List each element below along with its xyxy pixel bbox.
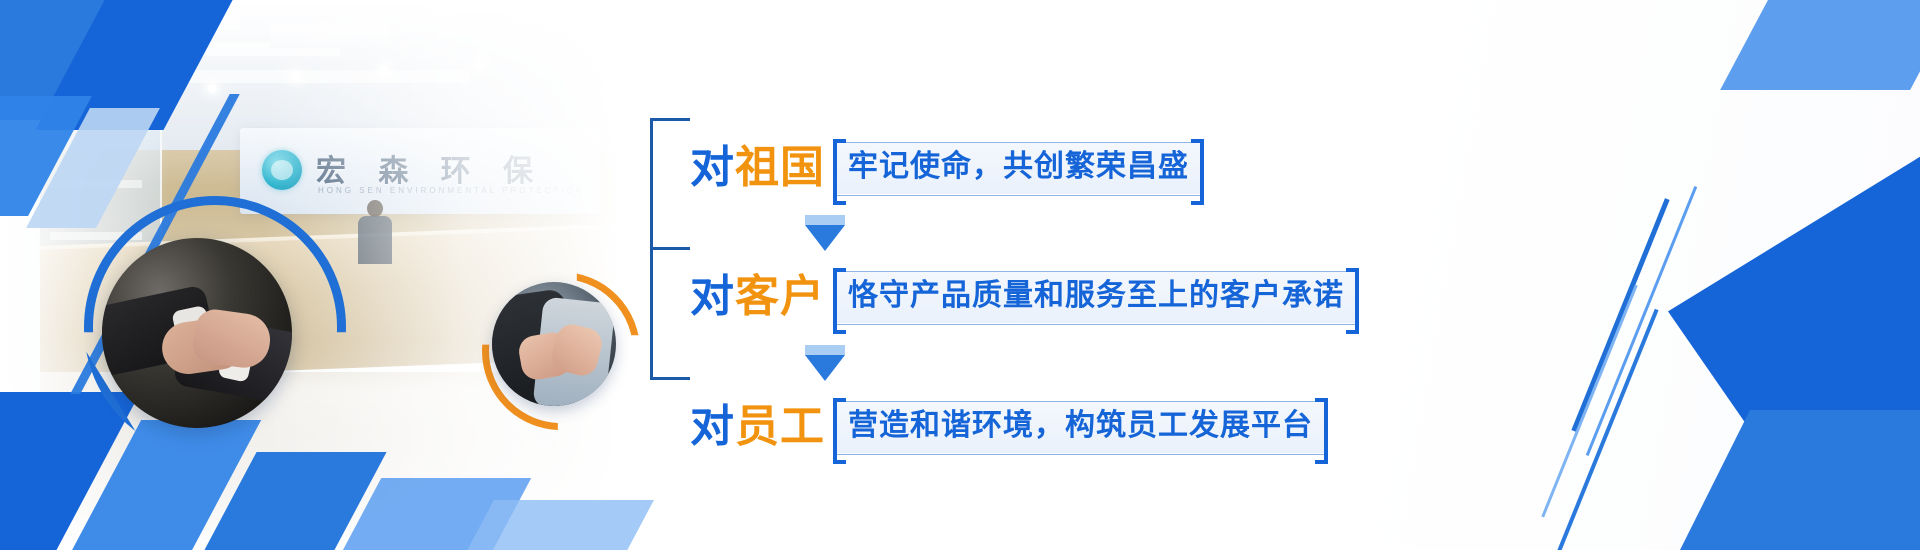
chip-right-bracket [1315,398,1328,464]
down-arrow-1 [805,215,845,251]
lead-prefix: 对 [690,402,735,451]
bracket-arm-2 [650,247,690,250]
chip-right-bracket [1191,139,1204,205]
arrow-bar [805,345,845,355]
values-list: 对祖国 牢记使命，共创繁荣昌盛 对客户 恪守产品质量和服务至上的客户承诺 [650,60,1410,460]
value-statement-country: 牢记使命，共创繁荣昌盛 [835,142,1202,194]
value-lead-employee: 对员工 [690,405,825,449]
bracket-arm-1 [650,118,690,121]
arrow-triangle [805,355,845,381]
arrow-bar [805,215,845,225]
lead-prefix: 对 [690,143,735,192]
value-lead-customer: 对客户 [690,275,825,319]
bracket-connector [650,118,692,380]
value-statement-customer: 恪守产品质量和服务至上的客户承诺 [835,271,1357,323]
chip-right-bracket [1346,268,1359,334]
down-arrow-2 [805,345,845,381]
company-values-banner: 宏 森 环 保 HONG SEN ENVIRONMENTAL PROTECTIO… [0,0,1920,550]
handshake-photo [102,238,292,428]
value-lead-country: 对祖国 [690,146,825,190]
value-statement-employee: 营造和谐环境，构筑员工发展平台 [835,401,1326,453]
gesture-photo [492,282,616,406]
arrow-triangle [805,225,845,251]
lead-prefix: 对 [690,272,735,321]
statement-text: 恪守产品质量和服务至上的客户承诺 [848,279,1344,312]
value-row-employee: 对员工 营造和谐环境，构筑员工发展平台 [690,401,1326,453]
value-row-country: 对祖国 牢记使命，共创繁荣昌盛 [690,142,1202,194]
value-row-customer: 对客户 恪守产品质量和服务至上的客户承诺 [690,271,1357,323]
statement-text: 营造和谐环境，构筑员工发展平台 [848,409,1313,442]
lead-keyword: 员工 [735,402,825,451]
statement-text: 牢记使命，共创繁荣昌盛 [848,150,1189,183]
lead-keyword: 祖国 [735,143,825,192]
lead-keyword: 客户 [735,272,825,321]
bracket-arm-3 [650,377,690,380]
